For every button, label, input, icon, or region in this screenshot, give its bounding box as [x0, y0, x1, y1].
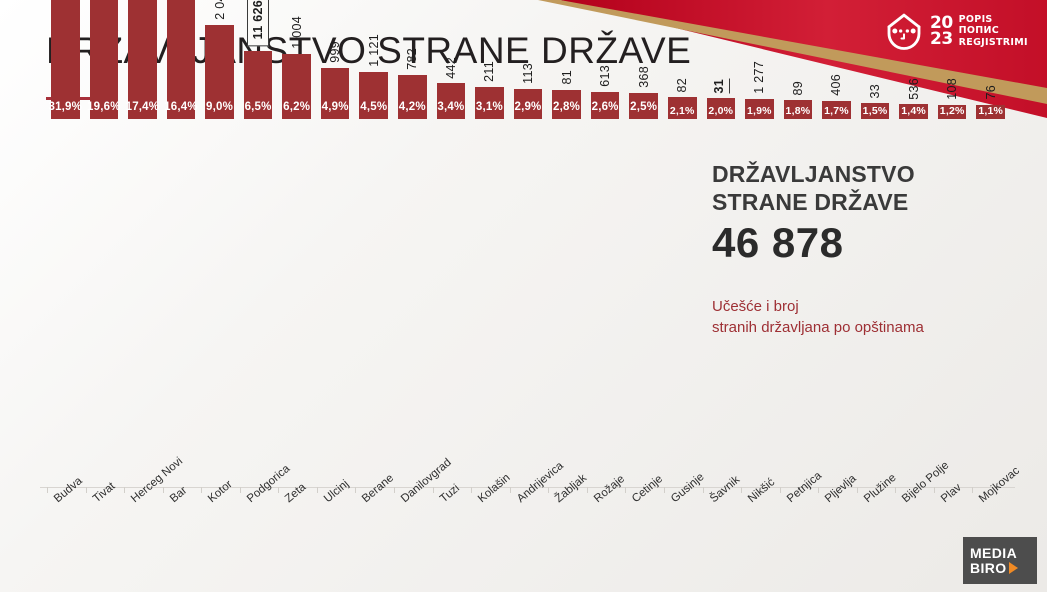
bar-column: 5 35417,4%: [128, 0, 157, 119]
bar-percent-label: 1,2%: [940, 105, 965, 117]
bar-count-label: 113: [521, 63, 535, 84]
bar-column: 3682,5%: [629, 3, 658, 119]
bar-percent-label: 3,1%: [476, 101, 503, 113]
bar-column: 1 1214,5%: [359, 0, 388, 119]
bar-rect: 3,1%: [475, 87, 504, 119]
bar-percent-label: 1,4%: [901, 105, 926, 117]
bar-rect: 1,5%: [861, 103, 890, 119]
bar-percent-label: 1,5%: [863, 105, 888, 117]
bar-column: 2113,1%: [475, 0, 504, 119]
bar-percent-label: 3,4%: [437, 101, 464, 113]
axis-tick: [433, 487, 434, 493]
axis-tick: [124, 487, 125, 493]
axis-tick: [895, 487, 896, 493]
bar-count-label: 368: [637, 66, 651, 88]
bar-rect: 1,4%: [899, 104, 928, 119]
bar-rect: 2,5%: [629, 93, 658, 119]
bar-rect: 19,6%: [90, 0, 119, 119]
bar-count-label: 81: [560, 70, 574, 85]
watermark-line2: BIRO: [970, 561, 1007, 576]
axis-tick: [86, 487, 87, 493]
bar-count-label: 211: [482, 61, 496, 82]
axis-tick: [278, 487, 279, 493]
bar-rect: 1,1%: [976, 105, 1005, 119]
axis-tick: [201, 487, 202, 493]
axis-tick: [394, 487, 395, 493]
bar-rect: 6,2%: [282, 54, 311, 119]
bar-column: 5361,4%: [899, 14, 928, 119]
bar-count-label: 1 277: [752, 61, 766, 94]
bar-count-label: 1 121: [367, 34, 381, 67]
bar-count-label: 108: [945, 78, 959, 100]
bar-column: 11 6266,5%: [244, 0, 273, 119]
bar-percent-label: 4,5%: [360, 101, 387, 113]
bar-rect: 4,2%: [398, 75, 427, 119]
axis-tick: [163, 487, 164, 493]
bar-count-label: 76: [984, 85, 998, 100]
bar-chart: 8 74531,9%3 20619,6%5 35417,4%7 53416,4%…: [40, 118, 1025, 488]
bar-count-label: 11 626: [247, 0, 269, 46]
bar-count-label: 31: [712, 79, 730, 94]
bar-rect: 2,6%: [591, 92, 620, 119]
bar-column: 6132,6%: [591, 2, 620, 119]
bar-rect: 4,9%: [321, 68, 350, 119]
bar-percent-label: 2,9%: [514, 101, 541, 113]
bar-column: 4423,4%: [437, 0, 466, 119]
bar-count-label: 89: [791, 81, 805, 96]
bar-percent-label: 1,7%: [824, 105, 849, 117]
bar-count-label: 613: [598, 65, 612, 87]
watermark-line1: MEDIA: [970, 546, 1037, 561]
bar-percent-label: 9,0%: [206, 101, 233, 113]
bar-column: 822,1%: [668, 7, 697, 119]
bar-count-label: 82: [675, 78, 689, 93]
bar-percent-label: 17,4%: [126, 101, 160, 113]
bar-column: 4061,7%: [822, 11, 851, 119]
axis-tick: [471, 487, 472, 493]
bar-percent-label: 2,0%: [708, 105, 733, 117]
bar-rect: 16,4%: [167, 0, 196, 119]
bar-column: 312,0%: [707, 8, 736, 119]
bar-percent-label: 1,1%: [978, 105, 1003, 117]
axis-tick: [934, 487, 935, 493]
axis-tick: [741, 487, 742, 493]
bar-count-label: 782: [405, 48, 419, 70]
bar-count-label: 406: [829, 74, 843, 96]
bar-percent-label: 6,2%: [283, 101, 310, 113]
bar-rect: 1,9%: [745, 99, 774, 119]
bar-percent-label: 1,9%: [747, 105, 772, 117]
bar-column: 812,8%: [552, 0, 581, 119]
bar-count-label: 2 041: [213, 0, 227, 20]
bar-rect: 2,1%: [668, 97, 697, 119]
bar-column: 1 2771,9%: [745, 9, 774, 119]
axis-tick: [587, 487, 588, 493]
bar-rect: 2,0%: [707, 98, 736, 119]
bar-rect: 6,5%: [244, 51, 273, 119]
bar-percent-label: 2,6%: [592, 101, 619, 113]
bar-column: 1 0046,2%: [282, 0, 311, 119]
bar-rect: 2,8%: [552, 90, 581, 119]
bar-column: 891,8%: [784, 10, 813, 119]
bar-rect: 17,4%: [128, 0, 157, 119]
bar-column: 9994,9%: [321, 0, 350, 119]
bar-rect: 4,5%: [359, 72, 388, 119]
axis-tick: [703, 487, 704, 493]
bar-count-label: 1 004: [290, 16, 304, 49]
axis-tick: [818, 487, 819, 493]
bar-percent-label: 2,1%: [670, 105, 695, 117]
bar-count-label: 442: [444, 57, 458, 79]
bar-rect: 1,8%: [784, 100, 813, 119]
bar-rect: 1,7%: [822, 101, 851, 119]
bar-percent-label: 2,8%: [553, 101, 580, 113]
axis-tick: [780, 487, 781, 493]
bar-column: 1132,9%: [514, 0, 543, 119]
infographic-page: 20 23 POPIS ПОПИС REGJISTRIMI DRŽAVLJANS…: [0, 0, 1047, 592]
bar-percent-label: 31,9%: [48, 101, 82, 113]
bar-count-label: 536: [907, 78, 921, 100]
bar-percent-label: 4,9%: [322, 101, 349, 113]
axis-tick: [47, 487, 48, 493]
axis-tick: [240, 487, 241, 493]
axis-tick: [548, 487, 549, 493]
bar-column: 7 53416,4%: [167, 0, 196, 119]
axis-tick: [972, 487, 973, 493]
bar-column: 761,1%: [976, 15, 1005, 119]
bar-rect: 3,4%: [437, 83, 466, 119]
axis-tick: [625, 487, 626, 493]
axis-tick: [857, 487, 858, 493]
bar-column: 3 20619,6%: [90, 0, 119, 119]
axis-tick: [317, 487, 318, 493]
bar-percent-label: 1,8%: [786, 105, 811, 117]
bar-percent-label: 16,4%: [164, 101, 198, 113]
bar-column: 2 0419,0%: [205, 0, 234, 119]
play-triangle-icon: [1009, 562, 1018, 574]
bar-percent-label: 19,6%: [87, 101, 121, 113]
bar-count-label: 33: [868, 84, 882, 99]
bar-percent-label: 2,5%: [630, 101, 657, 113]
axis-tick: [664, 487, 665, 493]
bar-rect: 2,9%: [514, 89, 543, 119]
axis-tick: [355, 487, 356, 493]
media-biro-watermark: MEDIA BIRO: [963, 537, 1037, 584]
bar-count-label: 999: [328, 41, 342, 63]
bar-rect: 31,9%: [51, 0, 80, 119]
bar-column: 8 74531,9%: [51, 0, 80, 119]
bar-column: 331,5%: [861, 13, 890, 119]
bar-percent-label: 4,2%: [399, 101, 426, 113]
bar-column: 1081,2%: [938, 15, 967, 119]
bar-rect: 9,0%: [205, 25, 234, 119]
axis-tick: [510, 487, 511, 493]
bar-column: 7824,2%: [398, 0, 427, 119]
bar-percent-label: 6,5%: [245, 101, 272, 113]
bar-rect: 1,2%: [938, 105, 967, 119]
